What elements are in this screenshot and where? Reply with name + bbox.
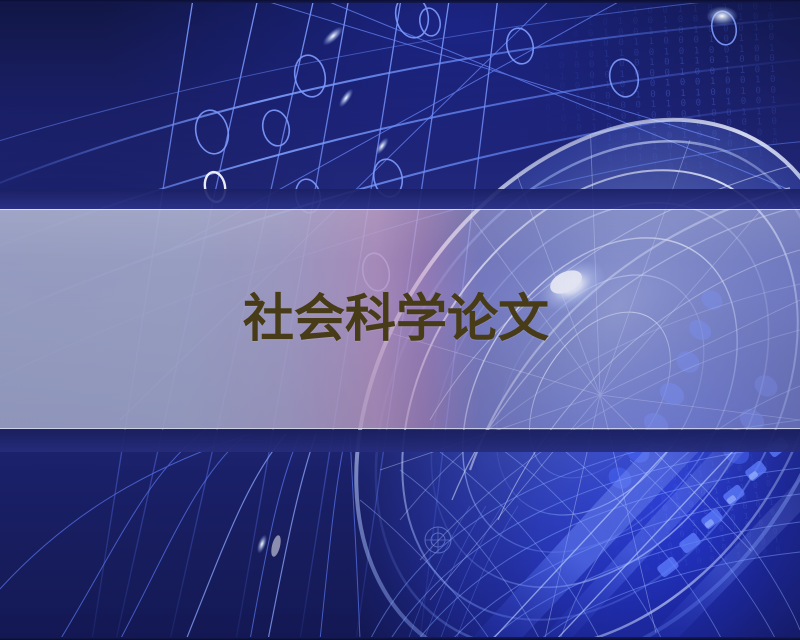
slide-canvas: 0 1 0 0 1 0 1 1 0 0 1 0 0 1 1 0 1 0 0 1 …: [0, 0, 800, 640]
slide-title: 社会科学论文: [243, 288, 573, 350]
slide-title-text: 社会科学论文: [243, 294, 549, 345]
banner-dark-band-top: [0, 189, 800, 209]
top-edge-line: [0, 0, 800, 3]
banner-dark-band-bottom: [0, 430, 800, 452]
